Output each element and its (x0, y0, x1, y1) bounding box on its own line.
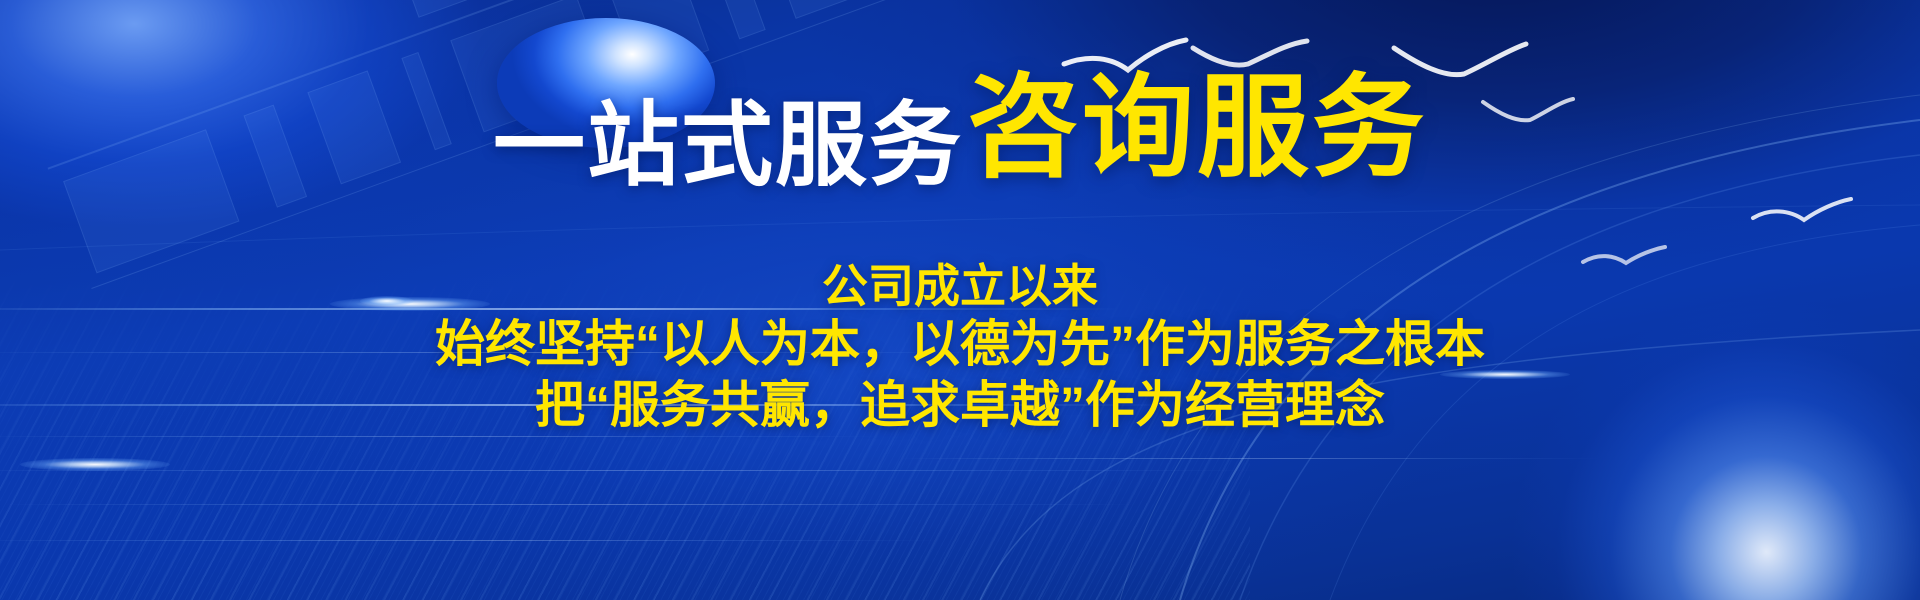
light-streak (900, 458, 1600, 459)
headline-white-text: 一站式服务 (493, 100, 963, 192)
seagull-icon (1750, 196, 1854, 236)
light-streak (0, 540, 940, 541)
headline-yellow-text: 咨询服务 (967, 72, 1427, 184)
light-streak (0, 504, 1140, 505)
subtitle-line-3: 把“服务共赢，追求卓越”作为经营理念 (0, 375, 1920, 436)
lens-flare (20, 458, 170, 471)
light-streak (0, 436, 880, 437)
subtitle-block: 公司成立以来 始终坚持“以人为本，以德为先”作为服务之根本 把“服务共赢，追求卓… (0, 258, 1920, 436)
subtitle-line-1: 公司成立以来 (0, 258, 1920, 314)
promotional-banner: 一站式服务 咨询服务 公司成立以来 始终坚持“以人为本，以德为先”作为服务之根本… (0, 0, 1920, 600)
headline: 一站式服务 咨询服务 (0, 72, 1920, 192)
subtitle-line-2: 始终坚持“以人为本，以德为先”作为服务之根本 (0, 314, 1920, 375)
light-streak (0, 470, 1260, 471)
